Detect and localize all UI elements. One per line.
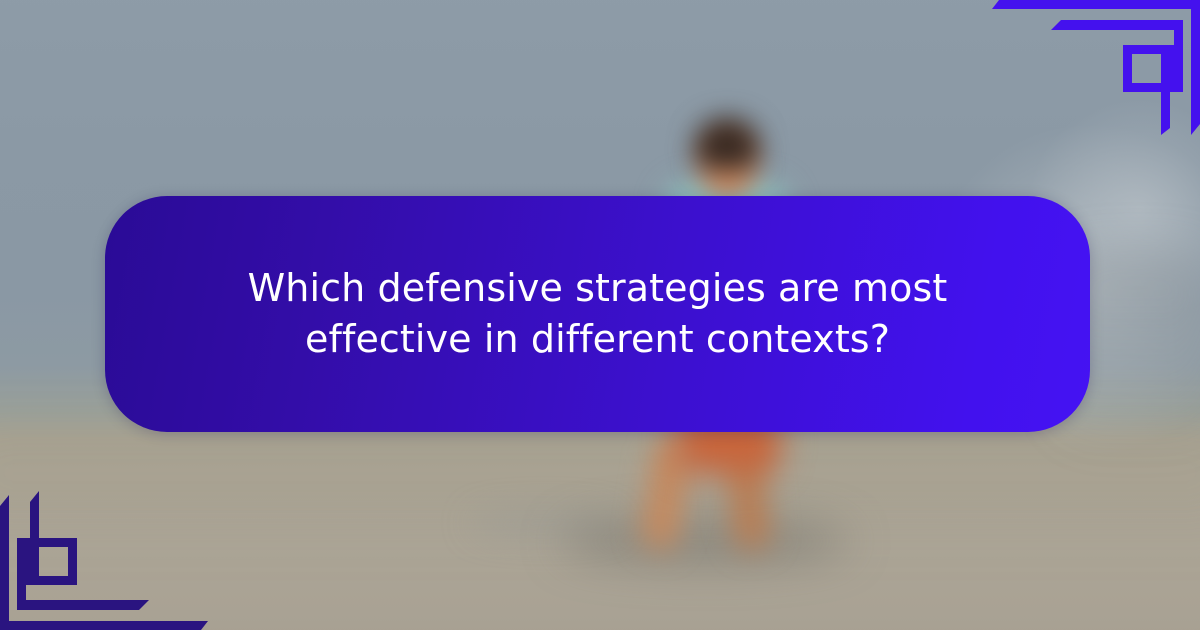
person-shadow <box>560 520 850 562</box>
person-hair <box>694 118 760 170</box>
corner-bracket-bottom-left-icon <box>0 430 215 630</box>
question-card: Which defensive strategies are most effe… <box>105 196 1090 432</box>
question-card-graphic: Which defensive strategies are most effe… <box>0 0 1200 630</box>
question-text: Which defensive strategies are most effe… <box>143 263 1053 365</box>
corner-bracket-top-right-icon <box>985 0 1200 135</box>
